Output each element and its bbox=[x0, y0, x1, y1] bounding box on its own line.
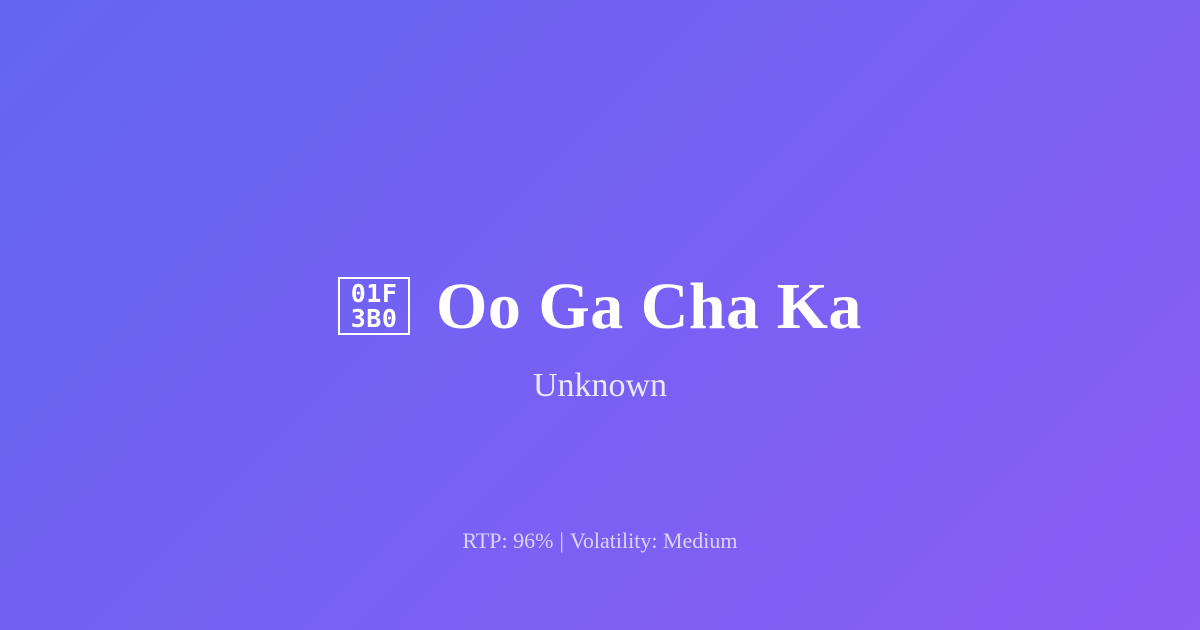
game-meta: RTP: 96%|Volatility: Medium bbox=[0, 527, 1200, 556]
game-provider-subtitle: Unknown bbox=[0, 366, 1200, 407]
game-preview-card: 01F 3B0 Oo Ga Cha Ka Unknown RTP: 96%|Vo… bbox=[0, 0, 1200, 630]
title-row: 01F 3B0 Oo Ga Cha Ka bbox=[0, 228, 1200, 386]
rtp-value: RTP: 96% bbox=[462, 528, 553, 553]
tofu-codepoint-bottom: 3B0 bbox=[351, 306, 398, 331]
meta-separator: | bbox=[553, 528, 569, 553]
tofu-codepoint-top: 01F bbox=[351, 281, 398, 306]
slot-machine-emoji-icon: 01F 3B0 bbox=[338, 277, 410, 335]
volatility-value: Volatility: Medium bbox=[570, 528, 738, 553]
page-title: Oo Ga Cha Ka bbox=[436, 272, 862, 341]
